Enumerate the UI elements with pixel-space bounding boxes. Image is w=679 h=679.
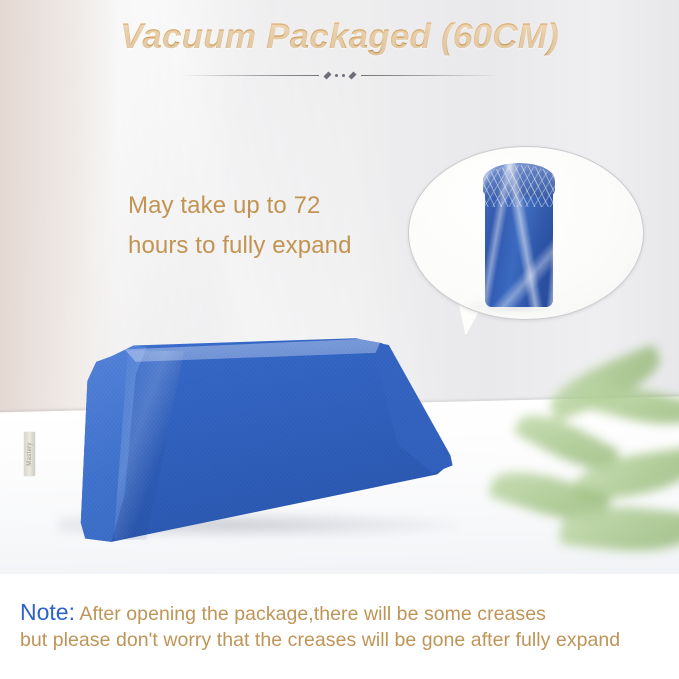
note-text-1: After opening the package,there will be … <box>79 603 546 625</box>
callout-line-2: hours to fully expand <box>128 226 418 266</box>
note-label: Note: <box>20 599 75 625</box>
expand-time-callout: May take up to 72 hours to fully expand <box>128 186 418 266</box>
speech-bubble-body <box>408 146 644 320</box>
pack-plastic-crinkle <box>481 165 559 207</box>
title-divider <box>0 68 679 82</box>
note-section: Note: After opening the package,there wi… <box>0 574 679 679</box>
note-line-1: Note: After opening the package,there wi… <box>20 599 546 626</box>
speech-bubble <box>408 146 644 346</box>
divider-line-left <box>181 75 319 76</box>
product-infographic: Mastery Vacuum Packaged (60CM) May take … <box>0 0 679 679</box>
callout-line-1: May take up to 72 <box>128 186 418 226</box>
brand-tag-label: Mastery <box>27 442 33 465</box>
vacuum-pack-image <box>479 163 561 309</box>
wedge-pillow: Mastery <box>28 336 468 561</box>
divider-ornament-icon <box>324 72 356 79</box>
page-title: Vacuum Packaged (60CM) <box>0 17 679 57</box>
plant-decoration <box>487 359 679 574</box>
divider-line-right <box>361 75 499 76</box>
photo-scene: Mastery Vacuum Packaged (60CM) May take … <box>0 0 679 574</box>
note-line-2: but please don't worry that the creases … <box>20 629 620 652</box>
brand-tag: Mastery <box>24 432 35 476</box>
